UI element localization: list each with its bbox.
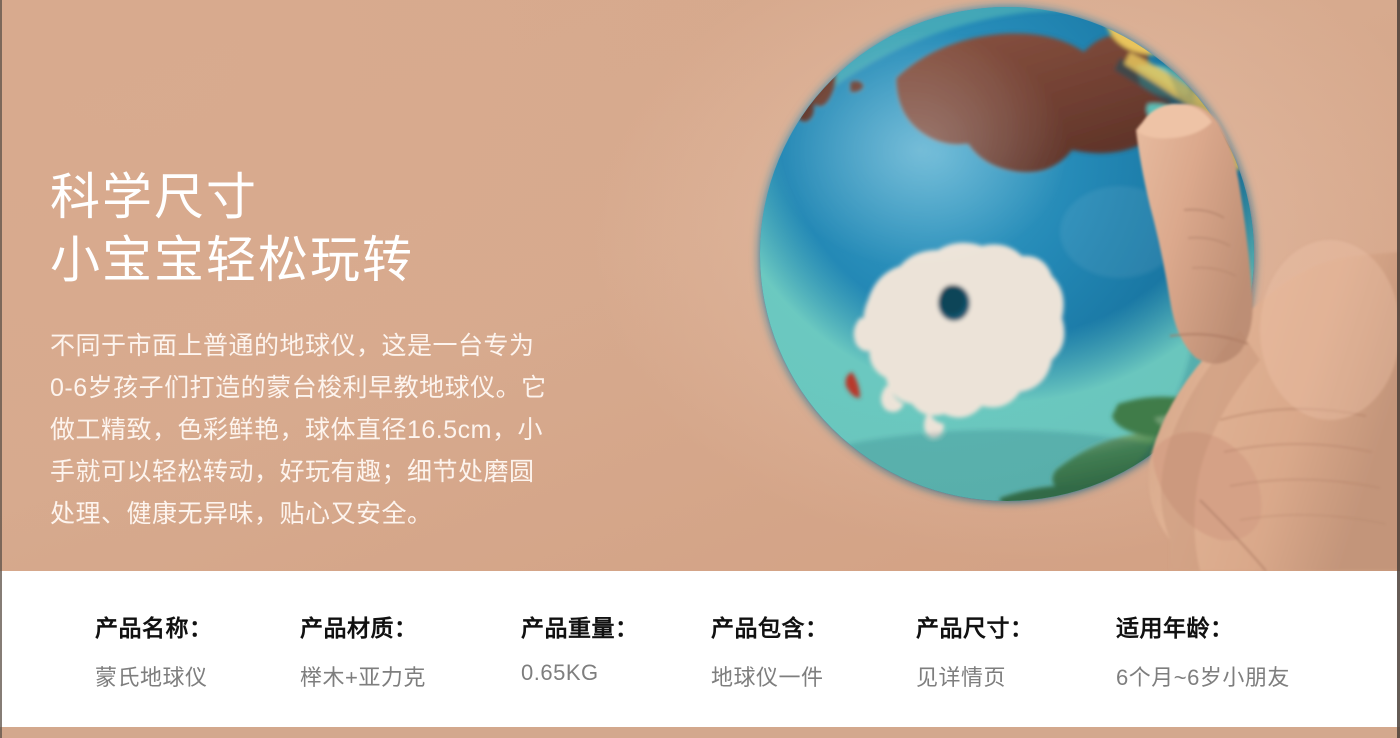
spec-value: 见详情页 <box>916 660 1034 692</box>
spec-item-material: 产品材质： 榉木+亚力克 <box>300 609 426 692</box>
headline-line-1: 科学尺寸 <box>50 166 610 229</box>
spec-label: 产品材质： <box>300 609 426 643</box>
spec-value: 0.65KG <box>521 660 639 686</box>
product-detail-page: 科学尺寸 小宝宝轻松玩转 不同于市面上普通的地球仪，这是一台专为 0-6岁孩子们… <box>0 0 1400 738</box>
spec-value: 6个月~6岁小朋友 <box>1116 660 1290 692</box>
spec-value: 蒙氏地球仪 <box>95 660 213 692</box>
description-line-5: 处理、健康无异味，贴心又安全。 <box>50 493 595 535</box>
spec-label: 产品名称： <box>95 609 213 643</box>
description-line-1: 不同于市面上普通的地球仪，这是一台专为 <box>50 325 595 367</box>
hero-copy: 科学尺寸 小宝宝轻松玩转 不同于市面上普通的地球仪，这是一台专为 0-6岁孩子们… <box>50 132 610 535</box>
spec-value: 地球仪一件 <box>711 660 829 692</box>
spec-label: 产品重量： <box>521 609 639 643</box>
description-line-3: 做工精致，色彩鲜艳，球体直径16.5cm，小 <box>50 409 595 451</box>
product-spec-bar: 产品名称： 蒙氏地球仪 产品材质： 榉木+亚力克 产品重量： 0.65KG 产品… <box>0 571 1400 727</box>
hand-holding-globe-photo <box>700 0 1400 571</box>
description-line-4: 手就可以轻松转动，好玩有趣；细节处磨圆 <box>50 451 595 493</box>
spec-item-contents: 产品包含： 地球仪一件 <box>711 609 829 692</box>
spec-item-dimensions: 产品尺寸： 见详情页 <box>916 609 1034 692</box>
spec-item-age-range: 适用年龄： 6个月~6岁小朋友 <box>1116 609 1290 692</box>
page-title: 科学尺寸 小宝宝轻松玩转 <box>50 166 610 292</box>
footer-strip <box>0 727 1400 738</box>
spec-item-weight: 产品重量： 0.65KG <box>521 609 639 686</box>
spec-value: 榉木+亚力克 <box>300 660 426 692</box>
hero-banner: 科学尺寸 小宝宝轻松玩转 不同于市面上普通的地球仪，这是一台专为 0-6岁孩子们… <box>0 0 1400 571</box>
description-line-2: 0-6岁孩子们打造的蒙台梭利早教地球仪。它 <box>50 367 595 409</box>
headline-line-2: 小宝宝轻松玩转 <box>50 229 610 292</box>
spec-label: 产品包含： <box>711 609 829 643</box>
hero-description: 不同于市面上普通的地球仪，这是一台专为 0-6岁孩子们打造的蒙台梭利早教地球仪。… <box>50 325 595 535</box>
spec-label: 产品尺寸： <box>916 609 1034 643</box>
page-edge-left <box>0 0 2 738</box>
spec-item-product-name: 产品名称： 蒙氏地球仪 <box>95 609 213 692</box>
spec-label: 适用年龄： <box>1116 609 1290 643</box>
